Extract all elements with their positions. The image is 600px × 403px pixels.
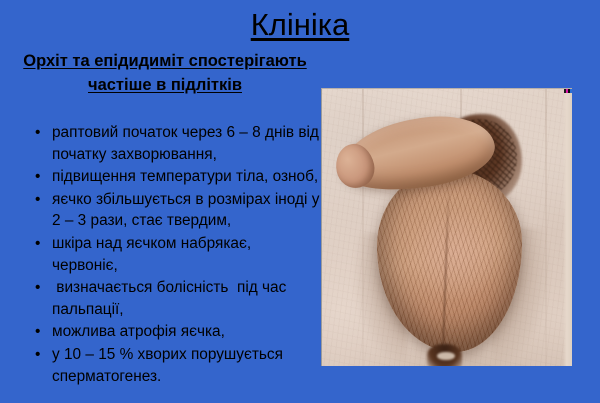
list-item: • раптовий початок через 6 – 8 днів від … — [24, 122, 320, 165]
artifact-pixel-blue — [570, 89, 572, 93]
list-item: • можлива атрофія яєчка, — [24, 321, 320, 343]
list-item: • підвищення температури тіла, озноб, — [24, 166, 320, 188]
bullet-marker-icon: • — [35, 189, 47, 211]
list-item: • визначається болісність під час пальпа… — [24, 277, 320, 320]
list-item: • шкіра над яєчком набрякає, червоніє, — [24, 233, 320, 276]
bullet-marker-icon: • — [35, 166, 47, 188]
list-item-label: у 10 – 15 % хворих порушується сперматог… — [52, 344, 320, 387]
bullet-marker-icon: • — [35, 321, 47, 343]
list-item-label: раптовий початок через 6 – 8 днів від по… — [52, 122, 320, 165]
presentation-slide: Клініка Орхіт та епідидиміт спостерігают… — [0, 0, 600, 403]
list-item-label: яєчко збільшується в розмірах іноді у 2 … — [52, 189, 320, 232]
bullet-marker-icon: • — [35, 122, 47, 144]
photo-right-edge-strip — [563, 89, 572, 366]
bullet-marker-icon: • — [35, 233, 47, 255]
list-item-label: можлива атрофія яєчка, — [52, 321, 320, 343]
clinical-features-list: • раптовий початок через 6 – 8 днів від … — [24, 122, 320, 388]
list-item-label: шкіра над яєчком набрякає, червоніє, — [52, 233, 320, 276]
bullet-marker-icon: • — [35, 344, 47, 366]
clinical-photograph — [321, 88, 572, 366]
list-item: • у 10 – 15 % хворих порушується спермат… — [24, 344, 320, 387]
photo-pixel-artifact — [564, 89, 572, 93]
list-item: • яєчко збільшується в розмірах іноді у … — [24, 189, 320, 232]
list-item-label: підвищення температури тіла, озноб, — [52, 166, 320, 188]
page-title: Клініка — [0, 6, 600, 44]
photograph-content — [322, 89, 572, 366]
slide-subtitle: Орхіт та епідидиміт спостерігають частіш… — [20, 50, 310, 97]
list-item-label: визначається болісність під час пальпаці… — [52, 277, 320, 320]
bullet-marker-icon: • — [35, 277, 47, 299]
